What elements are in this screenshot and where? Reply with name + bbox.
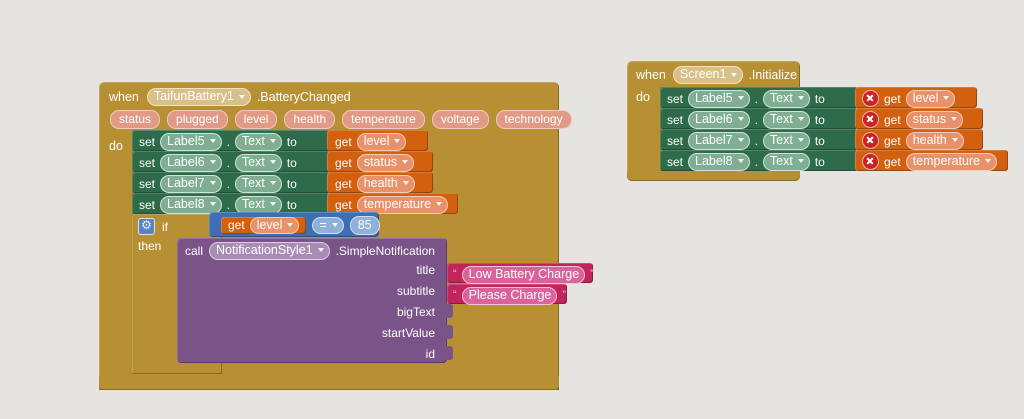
operator-dropdown-equals[interactable]: =	[312, 217, 343, 235]
property-dropdown-text[interactable]: Text	[235, 133, 282, 151]
getter-block-temperature[interactable]: get temperature	[327, 193, 458, 214]
to-keyword: to	[815, 135, 825, 147]
chevron-down-icon	[738, 117, 744, 121]
event-param-voltage[interactable]: voltage	[432, 110, 489, 129]
component-dropdown-label: Screen1	[680, 68, 727, 81]
blocks-workspace[interactable]: when TaifunBattery1 .BatteryChanged stat…	[0, 0, 1024, 419]
text-block-please-charge[interactable]: “ Please Charge ”	[447, 284, 567, 304]
setter-block-label6-init[interactable]: set Label6 . Text to	[660, 108, 858, 129]
set-keyword: set	[667, 114, 683, 126]
event-header-screen-initialize[interactable]: when Screen1 .Initialize	[636, 66, 797, 84]
chevron-down-icon	[270, 181, 276, 185]
component-label: NotificationStyle1	[216, 244, 313, 257]
getter-block-status[interactable]: get status	[327, 151, 433, 172]
close-quote-icon: ”	[562, 290, 566, 301]
chevron-down-icon	[403, 181, 409, 185]
dot-separator: .	[227, 178, 230, 190]
get-keyword: get	[335, 199, 352, 211]
get-keyword: get	[884, 135, 901, 147]
to-keyword: to	[287, 136, 297, 148]
variable-label: status	[364, 156, 397, 169]
component-dropdown-taifunbattery1[interactable]: TaifunBattery1	[147, 88, 251, 106]
arg-socket-bigtext[interactable]	[446, 304, 453, 318]
set-keyword: set	[667, 93, 683, 105]
chevron-down-icon	[210, 160, 216, 164]
to-keyword: to	[815, 156, 825, 168]
arg-socket-startvalue[interactable]	[446, 325, 453, 339]
chevron-down-icon	[943, 96, 949, 100]
close-quote-icon: ”	[590, 269, 594, 280]
component-label: Label6	[167, 156, 205, 169]
if-keyword: if	[162, 221, 168, 233]
property-dropdown-text[interactable]: Text	[235, 154, 282, 172]
variable-dropdown-status[interactable]: status	[357, 154, 414, 172]
event-param-health[interactable]: health	[284, 110, 335, 129]
set-keyword: set	[667, 135, 683, 147]
component-dropdown-label5[interactable]: Label5	[160, 133, 222, 151]
chevron-down-icon	[952, 138, 958, 142]
set-keyword: set	[139, 178, 155, 190]
chevron-down-icon	[985, 159, 991, 163]
event-param-level[interactable]: level	[235, 110, 278, 129]
then-keyword: then	[138, 240, 161, 252]
event-name-label: .Initialize	[748, 69, 797, 82]
chevron-down-icon	[798, 117, 804, 121]
event-parameters-row: status plugged level health temperature …	[110, 110, 572, 128]
set-keyword: set	[667, 156, 683, 168]
component-dropdown-notificationstyle1[interactable]: NotificationStyle1	[209, 242, 330, 260]
chevron-down-icon	[738, 159, 744, 163]
event-param-technology[interactable]: technology	[496, 110, 572, 129]
error-x-icon[interactable]	[862, 153, 879, 170]
component-dropdown-label7[interactable]: Label7	[160, 175, 222, 193]
get-keyword: get	[335, 136, 352, 148]
setter-block-label8[interactable]: set Label8 . Text to	[132, 193, 330, 214]
variable-label: temperature	[913, 155, 980, 168]
arg-label-bigtext: bigText	[397, 306, 435, 318]
dot-separator: .	[755, 135, 758, 147]
component-dropdown-label8[interactable]: Label8	[160, 196, 222, 214]
component-dropdown-label5[interactable]: Label5	[688, 90, 750, 108]
property-label: Text	[242, 156, 265, 169]
component-label: Label5	[167, 135, 205, 148]
dot-separator: .	[755, 93, 758, 105]
get-keyword: get	[335, 157, 352, 169]
to-keyword: to	[815, 93, 825, 105]
event-param-plugged[interactable]: plugged	[167, 110, 228, 129]
do-label-battery-changed: do	[109, 140, 123, 153]
component-dropdown-label6[interactable]: Label6	[160, 154, 222, 172]
variable-label: level	[364, 135, 390, 148]
variable-dropdown-health[interactable]: health	[906, 132, 964, 150]
component-label: Label7	[695, 134, 733, 147]
text-label: Please Charge	[469, 289, 552, 302]
variable-dropdown-level-condition[interactable]: level	[250, 217, 300, 235]
property-dropdown-text[interactable]: Text	[763, 111, 810, 129]
method-call-block-simplenotification[interactable]: call NotificationStyle1 .SimpleNotificat…	[177, 238, 447, 363]
property-dropdown-text[interactable]: Text	[763, 90, 810, 108]
when-keyword: when	[636, 69, 666, 82]
component-dropdown-screen1[interactable]: Screen1	[673, 66, 744, 84]
comparison-block-equals[interactable]: get level = 85	[209, 212, 379, 237]
text-block-low-battery-charge[interactable]: “ Low Battery Charge ”	[447, 263, 593, 283]
to-keyword: to	[815, 114, 825, 126]
chevron-down-icon	[738, 96, 744, 100]
set-keyword: set	[139, 199, 155, 211]
number-value: 85	[358, 219, 372, 232]
chevron-down-icon	[402, 160, 408, 164]
chevron-down-icon	[270, 139, 276, 143]
dot-separator: .	[755, 114, 758, 126]
getter-block-level-init[interactable]: get level	[855, 87, 977, 108]
component-dropdown-label: TaifunBattery1	[154, 90, 234, 103]
operator-label: =	[319, 219, 326, 232]
getter-block-level-condition[interactable]: get level	[221, 217, 306, 234]
chevron-down-icon	[210, 202, 216, 206]
to-keyword: to	[287, 157, 297, 169]
property-label: Text	[770, 113, 793, 126]
event-block-battery-changed[interactable]: when TaifunBattery1 .BatteryChanged stat…	[99, 82, 559, 390]
setter-block-label5[interactable]: set Label5 . Text to	[132, 130, 330, 151]
component-label: Label8	[167, 198, 205, 211]
setter-block-label8-init[interactable]: set Label8 . Text to	[660, 150, 858, 171]
chevron-down-icon	[318, 248, 324, 252]
to-keyword: to	[287, 199, 297, 211]
chevron-down-icon	[951, 117, 957, 121]
set-keyword: set	[139, 136, 155, 148]
dot-separator: .	[227, 157, 230, 169]
arg-label-title: title	[416, 264, 435, 276]
property-label: Text	[242, 198, 265, 211]
dot-separator: .	[227, 136, 230, 148]
call-keyword: call	[185, 245, 203, 257]
open-quote-icon: “	[453, 269, 457, 280]
text-label: Low Battery Charge	[469, 268, 579, 281]
get-keyword: get	[335, 178, 352, 190]
component-dropdown-label6[interactable]: Label6	[688, 111, 750, 129]
arg-label-subtitle: subtitle	[397, 285, 435, 297]
variable-dropdown-temperature[interactable]: temperature	[906, 153, 997, 171]
component-dropdown-label8[interactable]: Label8	[688, 153, 750, 171]
variable-dropdown-health[interactable]: health	[357, 175, 415, 193]
variable-label: level	[257, 219, 283, 232]
chevron-down-icon	[210, 181, 216, 185]
method-name-label: .SimpleNotification	[336, 245, 435, 257]
variable-label: status	[913, 113, 946, 126]
variable-dropdown-temperature[interactable]: temperature	[357, 196, 448, 214]
property-dropdown-text[interactable]: Text	[763, 132, 810, 150]
gear-icon[interactable]	[138, 218, 155, 235]
error-x-icon[interactable]	[862, 90, 879, 107]
variable-label: health	[364, 177, 398, 190]
error-x-icon[interactable]	[862, 111, 879, 128]
getter-block-health-init[interactable]: get health	[855, 129, 983, 150]
chevron-down-icon	[270, 160, 276, 164]
arg-label-startvalue: startValue	[382, 327, 435, 339]
event-param-temperature[interactable]: temperature	[342, 110, 425, 129]
chevron-down-icon	[287, 223, 293, 227]
to-keyword: to	[287, 178, 297, 190]
event-block-screen-initialize[interactable]: when Screen1 .Initialize do set Label5 .…	[627, 61, 800, 181]
chevron-down-icon	[798, 138, 804, 142]
arg-label-id: id	[426, 348, 435, 360]
event-name-label: .BatteryChanged	[257, 91, 351, 104]
variable-dropdown-level[interactable]: level	[357, 133, 407, 151]
get-keyword: get	[884, 93, 901, 105]
variable-label: health	[913, 134, 947, 147]
variable-dropdown-status[interactable]: status	[906, 111, 963, 129]
set-keyword: set	[139, 157, 155, 169]
component-dropdown-label7[interactable]: Label7	[688, 132, 750, 150]
chevron-down-icon	[332, 223, 338, 227]
variable-label: level	[913, 92, 939, 105]
property-dropdown-text[interactable]: Text	[763, 153, 810, 171]
property-label: Text	[242, 177, 265, 190]
when-keyword: when	[109, 91, 139, 104]
property-label: Text	[242, 135, 265, 148]
component-label: Label8	[695, 155, 733, 168]
get-keyword: get	[884, 156, 901, 168]
event-param-status[interactable]: status	[110, 110, 160, 129]
text-value-subtitle[interactable]: Please Charge	[462, 287, 558, 305]
chevron-down-icon	[394, 139, 400, 143]
get-keyword: get	[228, 219, 245, 231]
variable-label: temperature	[364, 198, 431, 211]
getter-block-level[interactable]: get level	[327, 130, 428, 151]
error-x-icon[interactable]	[862, 132, 879, 149]
property-dropdown-text[interactable]: Text	[235, 196, 282, 214]
arg-socket-id[interactable]	[446, 346, 453, 360]
chevron-down-icon	[270, 202, 276, 206]
setter-block-label7-init[interactable]: set Label7 . Text to	[660, 129, 858, 150]
dot-separator: .	[755, 156, 758, 168]
chevron-down-icon	[436, 202, 442, 206]
event-block-bottom-bar	[99, 376, 559, 390]
getter-block-temperature-init[interactable]: get temperature	[855, 150, 1008, 171]
event-block-bottom-bar	[627, 171, 800, 181]
property-dropdown-text[interactable]: Text	[235, 175, 282, 193]
component-label: Label7	[167, 177, 205, 190]
setter-block-label5-init[interactable]: set Label5 . Text to	[660, 87, 858, 108]
getter-block-health[interactable]: get health	[327, 172, 433, 193]
property-label: Text	[770, 92, 793, 105]
dot-separator: .	[227, 199, 230, 211]
event-header-battery-changed[interactable]: when TaifunBattery1 .BatteryChanged	[109, 88, 351, 106]
get-keyword: get	[884, 114, 901, 126]
setter-block-label6[interactable]: set Label6 . Text to	[132, 151, 330, 172]
method-call-header[interactable]: call NotificationStyle1 .SimpleNotificat…	[185, 242, 435, 260]
chevron-down-icon	[738, 138, 744, 142]
text-value-title[interactable]: Low Battery Charge	[462, 266, 585, 284]
open-quote-icon: “	[453, 290, 457, 301]
chevron-down-icon	[798, 96, 804, 100]
setter-block-label7[interactable]: set Label7 . Text to	[132, 172, 330, 193]
chevron-down-icon	[731, 73, 737, 77]
component-label: Label6	[695, 113, 733, 126]
number-block-85[interactable]: 85	[350, 216, 380, 235]
chevron-down-icon	[210, 139, 216, 143]
component-label: Label5	[695, 92, 733, 105]
property-label: Text	[770, 155, 793, 168]
chevron-down-icon	[239, 95, 245, 99]
do-label-screen-initialize: do	[636, 91, 650, 104]
variable-dropdown-level[interactable]: level	[906, 90, 956, 108]
property-label: Text	[770, 134, 793, 147]
chevron-down-icon	[798, 159, 804, 163]
getter-block-status-init[interactable]: get status	[855, 108, 983, 129]
